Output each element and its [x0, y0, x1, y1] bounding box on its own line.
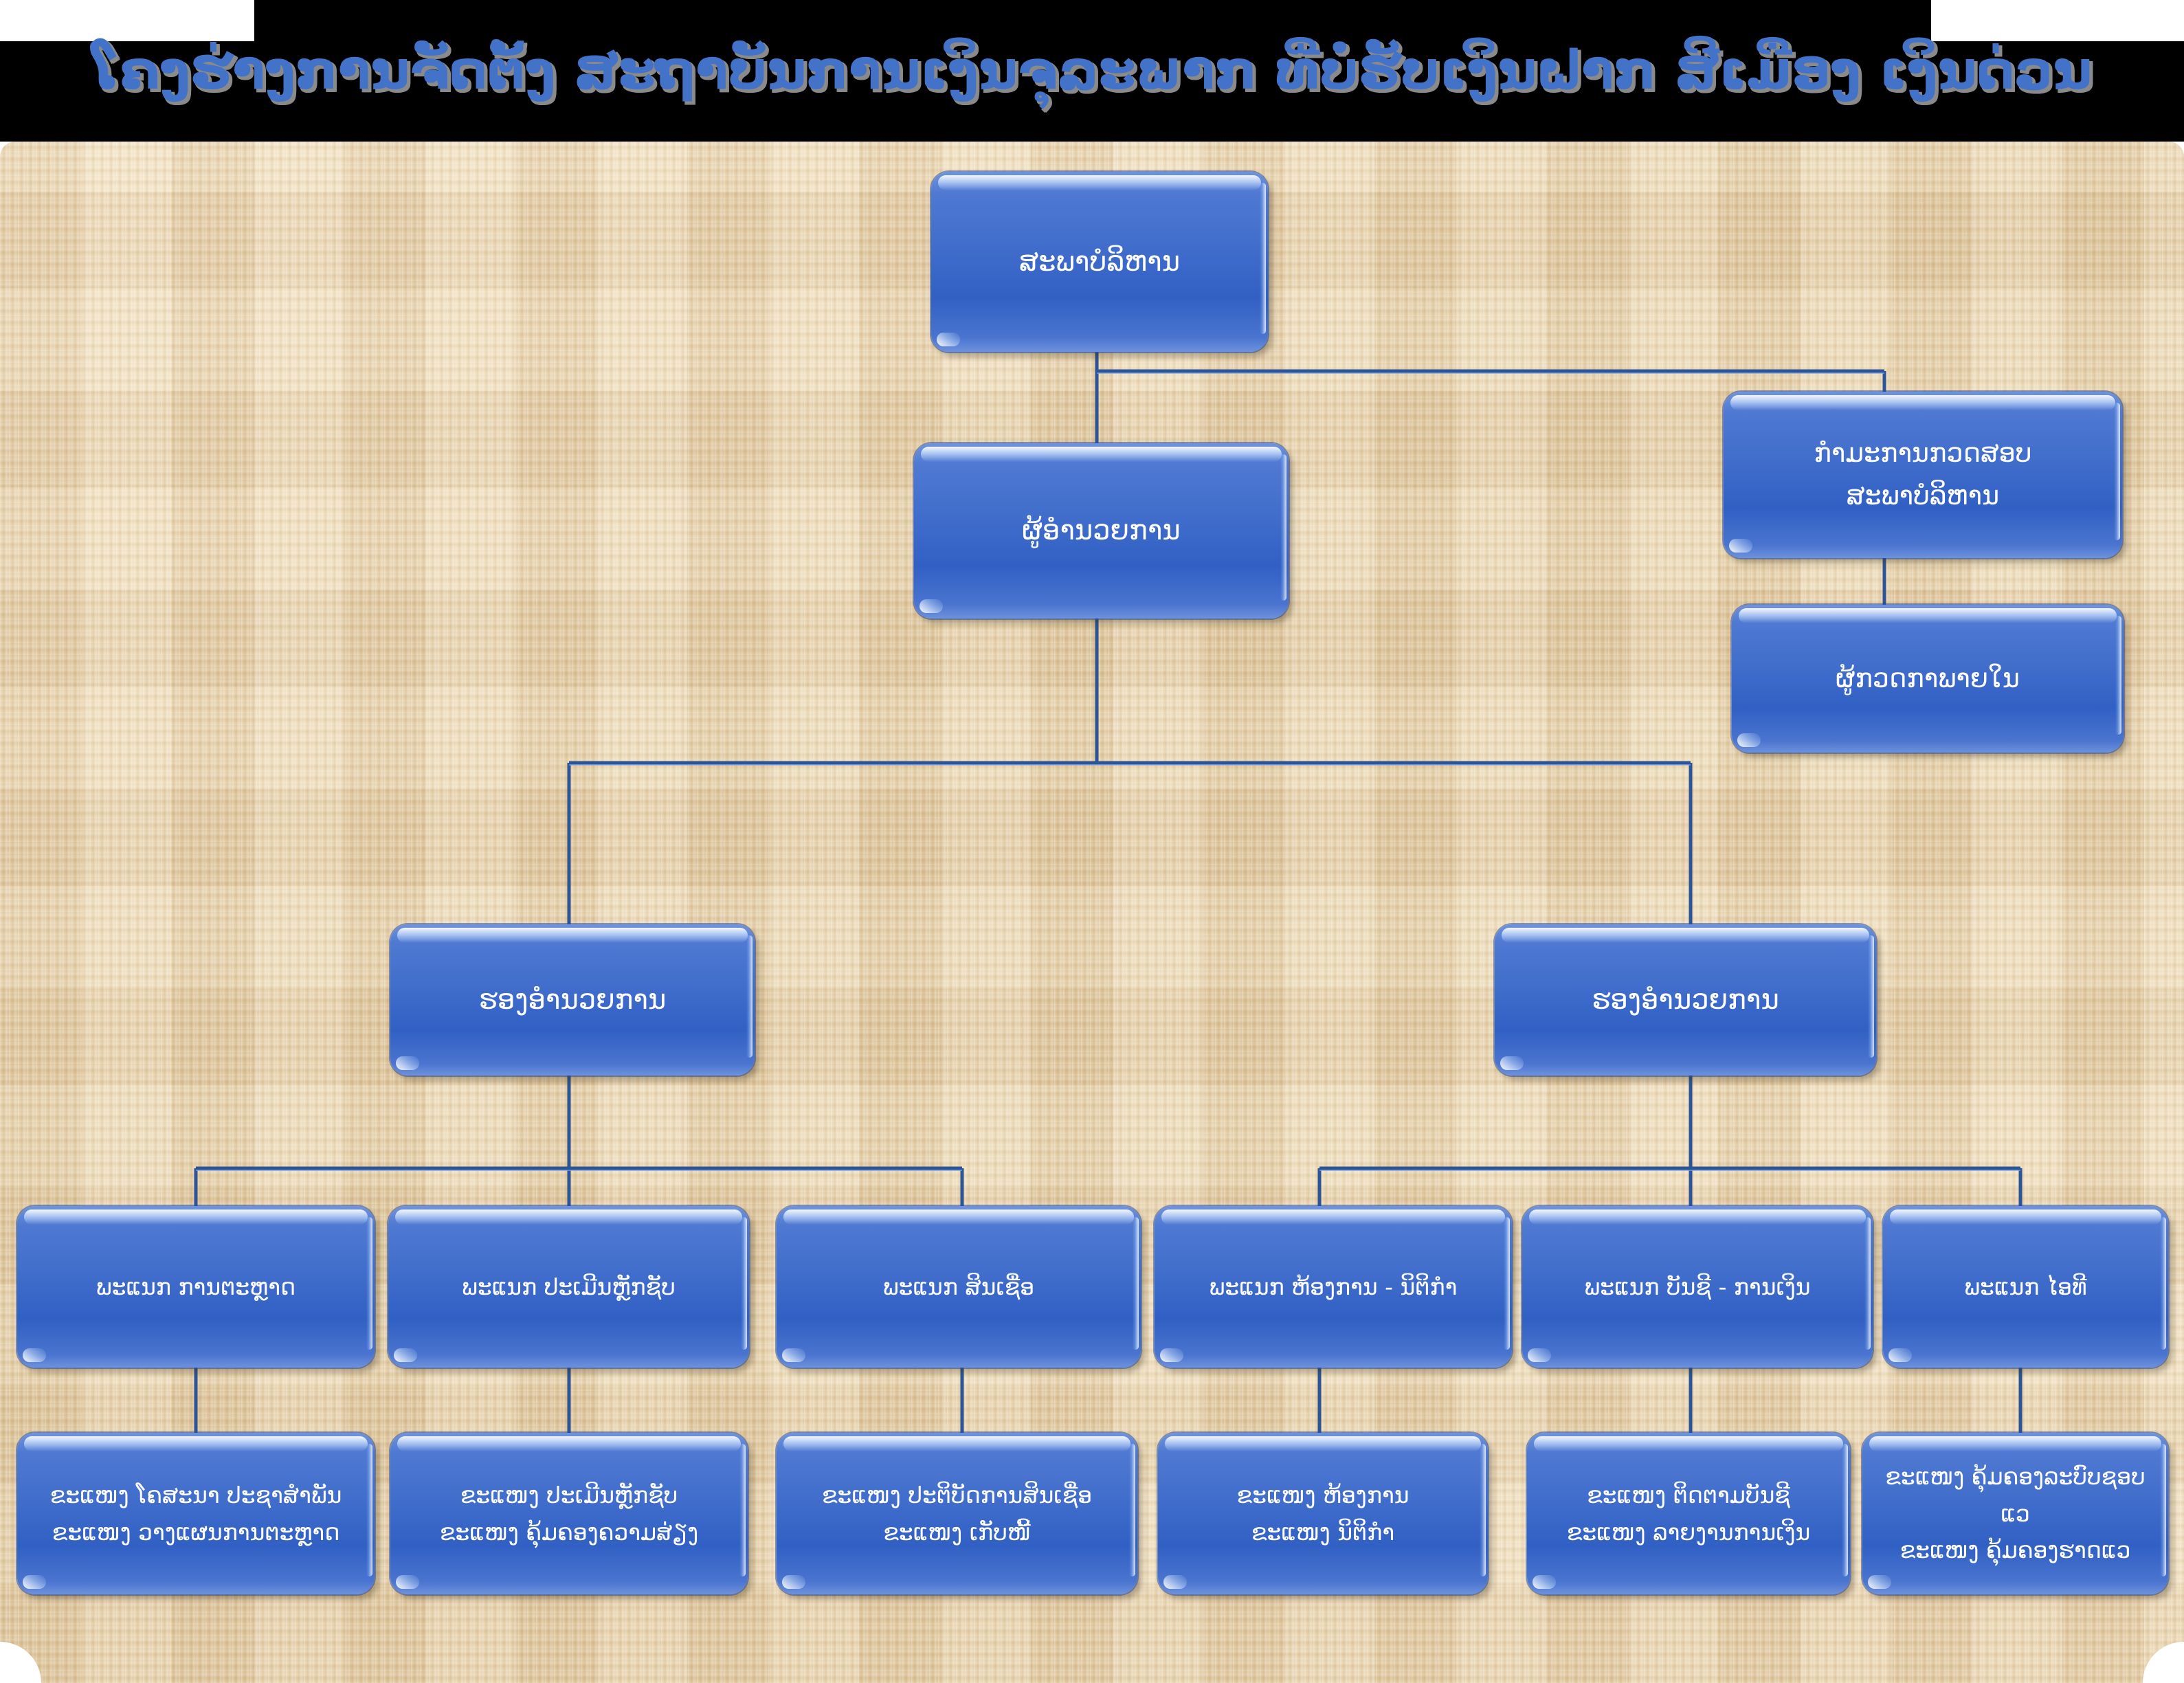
node-gleam-icon — [920, 599, 943, 613]
node-unit-credit[interactable]: ຂະແໜງ ປະຕິບັດການສິນເຊື່ອ ຂະແໜງ ເກັບໜີ້ — [777, 1433, 1137, 1594]
node-board-label: ສະພາບໍລິຫານ — [1010, 240, 1190, 285]
node-dept-office-legal[interactable]: ພະແນກ ຫ້ອງການ - ນິຕິກຳ — [1155, 1206, 1512, 1368]
node-dept-accounting-finance[interactable]: ພະແນກ ບັນຊີ - ການເງິນ — [1522, 1206, 1873, 1368]
node-gleam-icon — [1163, 1575, 1187, 1589]
node-gleam-icon — [396, 1056, 419, 1070]
node-unit-it-label: ຂະແໜງ ຄຸ້ມຄອງລະບົບຊອບແວ ຂະແໜງ ຄຸ້ມຄອງຮາດ… — [1862, 1458, 2168, 1568]
node-gleam-icon — [394, 1348, 417, 1362]
node-dept-credit-label: ພະແນກ ສິນເຊື່ອ — [873, 1269, 1044, 1305]
node-dept-marketing-label: ພະແນກ ການຕະຫຼາດ — [87, 1269, 305, 1305]
node-audit-committee[interactable]: ກຳມະການກວດສອບ ສະພາບໍລິຫານ — [1724, 392, 2122, 558]
node-gleam-icon — [1500, 1056, 1524, 1070]
node-deputy-director-right-label: ຮອງອຳນວຍການ — [1582, 978, 1789, 1023]
node-unit-accounting[interactable]: ຂະແໜງ ຕິດຕາມບັນຊີ ຂະແໜງ ລາຍງານການເງິນ — [1527, 1433, 1850, 1594]
node-unit-it[interactable]: ຂະແໜງ ຄຸ້ມຄອງລະບົບຊອບແວ ຂະແໜງ ຄຸ້ມຄອງຮາດ… — [1862, 1433, 2168, 1594]
node-unit-valuation-label: ຂະແໜງ ປະເມີນຫຼັກຊັບ ຂະແໜງ ຄຸ້ມຄອງຄວາມສ່ຽ… — [430, 1477, 708, 1550]
node-gleam-icon — [1737, 733, 1761, 747]
node-deputy-director-left-label: ຮອງອຳນວຍການ — [469, 978, 676, 1023]
node-dept-credit[interactable]: ພະແນກ ສິນເຊື່ອ — [777, 1206, 1141, 1368]
node-gleam-icon — [1868, 1575, 1891, 1589]
node-deputy-director-right[interactable]: ຮອງອຳນວຍການ — [1495, 924, 1876, 1075]
title-banner: ໂຄງຮ່າງການຈັດຕັ້ງ ສະຖາບັນການເງິນຈຸລະພາກ … — [0, 0, 2184, 142]
node-deputy-director-left[interactable]: ຮອງອຳນວຍການ — [390, 924, 755, 1075]
node-dept-accounting-finance-label: ພະແນກ ບັນຊີ - ການເງິນ — [1574, 1269, 1820, 1305]
node-gleam-icon — [937, 333, 960, 346]
node-unit-credit-label: ຂະແໜງ ປະຕິບັດການສິນເຊື່ອ ຂະແໜງ ເກັບໜີ້ — [812, 1477, 1102, 1550]
node-gleam-icon — [782, 1575, 805, 1589]
node-dept-valuation-label: ພະແນກ ປະເມີນຫຼັກຊັບ — [452, 1269, 685, 1305]
node-unit-office-legal-label: ຂະແໜງ ຫ້ອງການ ຂະແໜງ ນິຕິກຳ — [1227, 1477, 1419, 1550]
node-gleam-icon — [1160, 1348, 1183, 1362]
node-board[interactable]: ສະພາບໍລິຫານ — [931, 172, 1268, 352]
node-dept-it[interactable]: ພະແນກ ໄອທີ — [1883, 1206, 2168, 1368]
node-gleam-icon — [1729, 539, 1752, 553]
node-director-label: ຜູ້ອຳນວຍການ — [1012, 509, 1190, 553]
node-gleam-icon — [23, 1348, 46, 1362]
node-internal-auditor[interactable]: ຜູ້ກວດກາພາຍໃນ — [1732, 605, 2124, 753]
org-chart-root: ໂຄງຮ່າງການຈັດຕັ້ງ ສະຖາບັນການເງິນຈຸລະພາກ … — [0, 0, 2184, 1683]
node-director[interactable]: ຜູ້ອຳນວຍການ — [914, 443, 1289, 618]
node-unit-marketing[interactable]: ຂະແໜງ ໂຄສະນາ ປະຊາສຳພັນ ຂະແໜງ ວາງແຜນການຕະ… — [17, 1433, 375, 1594]
node-dept-office-legal-label: ພະແນກ ຫ້ອງການ - ນິຕິກຳ — [1200, 1269, 1467, 1305]
node-dept-it-label: ພະແນກ ໄອທີ — [1954, 1269, 2096, 1305]
node-internal-auditor-label: ຜູ້ກວດກາພາຍໃນ — [1826, 658, 2029, 700]
node-dept-valuation[interactable]: ພະແນກ ປະເມີນຫຼັກຊັບ — [388, 1206, 749, 1368]
canvas-corner-bottom-left — [0, 1642, 41, 1683]
node-audit-committee-label: ກຳມະການກວດສອບ ສະພາບໍລິຫານ — [1804, 432, 2041, 517]
chart-title: ໂຄງຮ່າງການຈັດຕັ້ງ ສະຖາບັນການເງິນຈຸລະພາກ … — [0, 0, 2184, 142]
node-gleam-icon — [1528, 1348, 1551, 1362]
node-gleam-icon — [1533, 1575, 1556, 1589]
node-dept-marketing[interactable]: ພະແນກ ການຕະຫຼາດ — [17, 1206, 375, 1368]
canvas-corner-bottom-right — [2143, 1642, 2184, 1683]
node-unit-office-legal[interactable]: ຂະແໜງ ຫ້ອງການ ຂະແໜງ ນິຕິກຳ — [1158, 1433, 1488, 1594]
node-gleam-icon — [1888, 1348, 1912, 1362]
node-gleam-icon — [23, 1575, 46, 1589]
node-gleam-icon — [396, 1575, 419, 1589]
node-unit-valuation[interactable]: ຂະແໜງ ປະເມີນຫຼັກຊັບ ຂະແໜງ ຄຸ້ມຄອງຄວາມສ່ຽ… — [390, 1433, 748, 1594]
node-unit-accounting-label: ຂະແໜງ ຕິດຕາມບັນຊີ ຂະແໜງ ລາຍງານການເງິນ — [1557, 1477, 1820, 1550]
node-unit-marketing-label: ຂະແໜງ ໂຄສະນາ ປະຊາສຳພັນ ຂະແໜງ ວາງແຜນການຕະ… — [41, 1477, 352, 1550]
node-gleam-icon — [782, 1348, 805, 1362]
